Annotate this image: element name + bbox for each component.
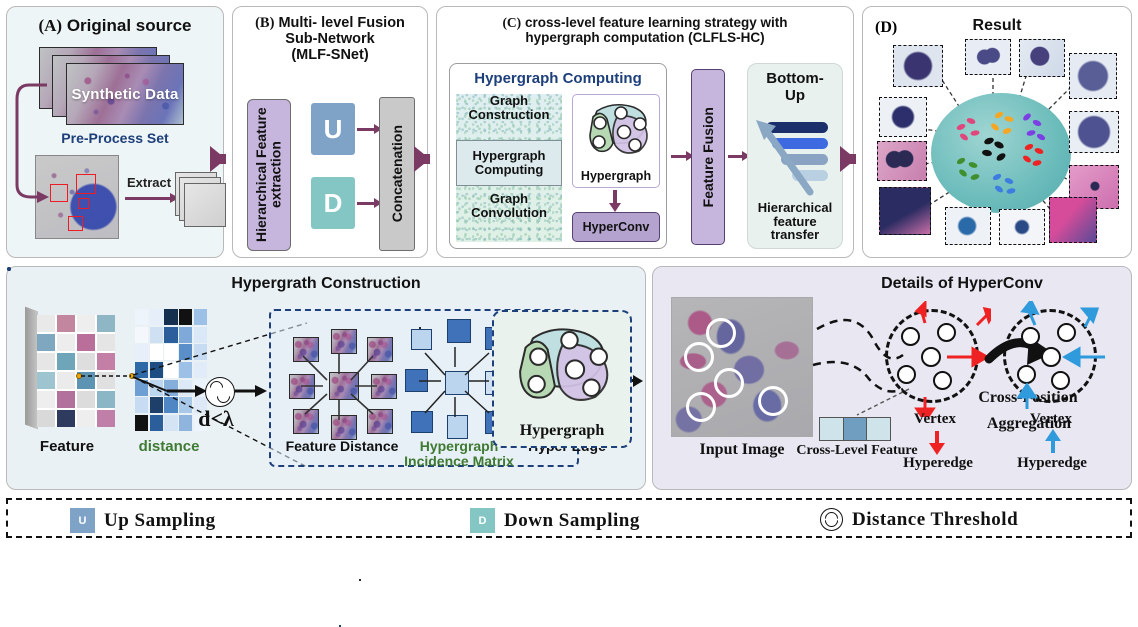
distance-cell: [179, 344, 192, 360]
panel-hyperconv-details: Details of HyperConv Input Image: [652, 266, 1132, 490]
vertex-left-label: Vertex: [899, 411, 971, 428]
vertex-right-label: Vertex: [1013, 411, 1089, 428]
legend-bar: U Up Sampling D Down Sampling Distance T…: [6, 498, 1132, 538]
panel-a-title: (A) Original source: [7, 7, 223, 35]
feature-cell: [844, 418, 868, 440]
feature-cell: [97, 391, 115, 408]
distance-cell: [150, 415, 163, 431]
graph-construction-label: Graph Construction: [456, 94, 562, 121]
feature-cell: [57, 372, 75, 389]
feature-cell: [37, 315, 55, 332]
feature-cell: [57, 334, 75, 351]
hyperconv-details-title: Details of HyperConv: [653, 267, 1131, 293]
hypergraph-computing-title: Hypergraph Computing: [450, 64, 666, 87]
distance-cell: [194, 309, 207, 325]
panel-a-original-source: (A) Original source Synthetic Data Pre-P…: [6, 6, 224, 258]
feature-cell: [867, 418, 890, 440]
hierarchical-feature-extraction-block: Hierarchical Feature extraction: [247, 99, 291, 251]
panel-b-title-line1: Multi- level Fusion: [278, 15, 404, 31]
hypergraph-computing-inner-box: Hypergraph Computing: [456, 140, 562, 186]
feature-cell: [57, 391, 75, 408]
result-thumb-7: [877, 141, 927, 181]
distance-cell: [179, 309, 192, 325]
distance-cell: [194, 344, 207, 360]
hypergraph-result-box: [7, 267, 11, 271]
distance-cell: [150, 344, 163, 360]
distance-cell: [150, 327, 163, 343]
legend-label-down-sampling: Down Sampling: [504, 510, 640, 532]
arrow-c-to-d-icon: [840, 146, 856, 172]
feature-distance-arrows-icon: [277, 322, 407, 447]
feature-cell: [97, 315, 115, 332]
input-image-label: Input Image: [671, 441, 813, 459]
panel-b-tag: (B): [255, 15, 274, 31]
hierarchical-feature-transfer-label: Hierarchical feature transfer: [748, 201, 842, 242]
feature-cell: [37, 372, 55, 389]
hyperedge-patch: [419, 327, 421, 329]
distance-cell: [135, 344, 148, 360]
distance-cell: [179, 362, 192, 378]
anchor-dot-right: [129, 373, 135, 379]
panel-c-title-line2: hypergraph computation (CLFLS-HC): [525, 30, 764, 45]
panel-b-title-line2: Sub-Network: [285, 31, 374, 47]
hyperedge-left-label: Hyperedge: [895, 455, 981, 472]
panel-b-title-line3: (MLF-SNet): [291, 47, 368, 63]
panel-c-tag: (C): [502, 15, 521, 30]
blue-up-arrow-icon: [1041, 429, 1065, 455]
highlight-circle-5: [758, 386, 788, 416]
arrow-a-to-b-icon: [210, 146, 226, 172]
highlight-circle-1: [706, 318, 736, 348]
distance-cell: [150, 380, 163, 396]
arrow-b-to-c-icon: [414, 146, 430, 172]
distance-cell: [150, 309, 163, 325]
concatenation-block: Concatenation: [379, 97, 415, 251]
graph-convolution-label: Graph Convolution: [456, 192, 562, 219]
feature-cell: [820, 418, 844, 440]
distance-cell: [164, 344, 177, 360]
hypergraph-final-icon: [500, 318, 628, 410]
legend-badge-u: U: [70, 508, 95, 533]
result-thumb-4: [1069, 53, 1117, 99]
feature-cell: [57, 315, 75, 332]
distance-cell: [135, 327, 148, 343]
distance-cell: [150, 362, 163, 378]
result-thumb-9: [879, 187, 931, 235]
feature-label: Feature: [21, 439, 113, 455]
panel-d-result: (D) Result: [862, 6, 1132, 258]
feature-cell: [77, 391, 95, 408]
result-thumb-12: [1049, 197, 1097, 243]
feature-distance-text: Feature Distance: [286, 438, 399, 454]
result-thumb-5: [879, 97, 927, 137]
down-sampling-label: D: [324, 188, 343, 219]
hierarchical-feature-extraction-label: Hierarchical Feature extraction: [254, 100, 283, 250]
distance-cell: [179, 380, 192, 396]
distance-cell: [164, 397, 177, 413]
highlight-circle-2: [684, 342, 714, 372]
up-sampling-label: U: [324, 114, 343, 145]
panel-b-title: (B) Multi- level Fusion Sub-Network (MLF…: [233, 7, 427, 64]
panel-c-title: (C) cross-level feature learning strateg…: [437, 7, 853, 45]
threshold-formula: d<λ: [181, 407, 251, 430]
distance-cell: [164, 362, 177, 378]
legend-label-distance-threshold: Distance Threshold: [852, 509, 1018, 531]
feature-cell: [57, 410, 75, 427]
concatenation-label: Concatenation: [390, 125, 405, 222]
synthetic-image-stack: Synthetic Data: [39, 47, 189, 127]
hypergraph-final-box: Hypergraph: [492, 310, 632, 448]
patch-3: [184, 183, 226, 227]
legend-item-down-sampling: D Down Sampling: [470, 508, 640, 533]
feature-cell: [97, 372, 115, 389]
distance-cell: [164, 327, 177, 343]
hypergraph-construction-title: Hypergrath Construction: [7, 267, 645, 293]
feature-cell: [37, 353, 55, 370]
result-thumb-10: [945, 207, 991, 245]
feature-cell: [77, 334, 95, 351]
feature-cell: [77, 410, 95, 427]
cluster-points: [931, 93, 1071, 213]
extracted-patch-stack: [175, 172, 227, 234]
synthetic-image-3: Synthetic Data: [66, 63, 184, 125]
distance-cell: [194, 327, 207, 343]
arrow-d-to-concat-icon: [357, 202, 375, 205]
source-slide-image: [35, 155, 119, 239]
panel-a-title-text: Original source: [67, 16, 192, 35]
feature-cell: [97, 410, 115, 427]
legend-badge-d: D: [470, 508, 495, 533]
distance-cell: [164, 380, 177, 396]
hypergraph-final-label: Hypergraph: [494, 422, 630, 440]
feature-cell: [77, 315, 95, 332]
distance-label: distance: [119, 439, 219, 455]
feature-fusion-label: Feature Fusion: [701, 107, 716, 207]
arrow-hc-to-ff-icon: [671, 155, 687, 158]
highlight-circle-3: [714, 368, 744, 398]
arrow-ff-to-bu-icon: [728, 155, 743, 158]
panel-a-tag: (A): [38, 16, 62, 35]
extract-arrow-icon: [125, 197, 171, 200]
feature-cell: [37, 410, 55, 427]
roi-box-3: [78, 198, 89, 209]
extract-label: Extract: [127, 175, 171, 190]
feature-cell: [57, 353, 75, 370]
feature-cell: [37, 391, 55, 408]
roi-box-4: [68, 216, 83, 231]
distance-cell: [135, 415, 148, 431]
distance-threshold-icon: [205, 377, 235, 407]
down-sampling-block: D: [311, 177, 355, 229]
legend-item-up-sampling: U Up Sampling: [70, 508, 216, 533]
distance-cell: [135, 397, 148, 413]
feature-distance-label: Feature Distance: [283, 439, 401, 454]
feature-cell: [97, 334, 115, 351]
legend-label-up-sampling: Up Sampling: [104, 510, 216, 532]
feature-cell: [77, 353, 95, 370]
hyperconv-block: HyperConv: [572, 212, 660, 242]
up-sampling-block: U: [311, 103, 355, 155]
blue-aggregation-arrows-icon: [997, 301, 1113, 417]
roi-box-2: [76, 174, 96, 194]
feature-grid: [37, 315, 115, 427]
hypergraph-computing-box: Hypergraph Computing Graph Construction …: [449, 63, 667, 249]
red-down-arrow-icon: [925, 429, 949, 455]
anchor-dot-left: [76, 373, 82, 379]
feature-cell: [37, 334, 55, 351]
distance-cell: [194, 362, 207, 378]
preprocess-set-label: Pre-Process Set: [7, 130, 223, 146]
bottom-up-box: Bottom- Up Hierarchical feature transfer: [747, 63, 843, 249]
panel-c-clfls-hc: (C) cross-level feature learning strateg…: [436, 6, 854, 258]
hypergraph-card: Hypergraph: [572, 94, 660, 188]
distance-cell: [164, 309, 177, 325]
hypergraph-caption: Hypergraph: [573, 169, 659, 183]
hypergraph-diagram-icon: [573, 97, 661, 163]
synthetic-data-label: Synthetic Data: [67, 86, 183, 103]
result-thumb-6: [1069, 111, 1119, 153]
legend-distance-threshold-icon: [820, 508, 843, 531]
arrow-u-to-concat-icon: [357, 128, 375, 131]
input-image: [671, 297, 813, 437]
result-thumb-1: [893, 45, 943, 87]
arrow-hypergraph-to-hyperconv-icon: [613, 190, 617, 204]
feature-fusion-block: Feature Fusion: [691, 69, 725, 245]
distance-cell: [135, 362, 148, 378]
panel-c-title-line1: cross-level feature learning strategy wi…: [525, 15, 788, 30]
feature-cell: [97, 353, 115, 370]
distance-cell: [135, 309, 148, 325]
distance-cell: [179, 327, 192, 343]
result-thumb-11: [999, 209, 1045, 245]
hyperedge-right-label: Hyperedge: [1009, 455, 1095, 472]
distance-cell: [150, 397, 163, 413]
legend-item-distance-threshold: Distance Threshold: [820, 508, 1018, 531]
distance-cell: [135, 380, 148, 396]
highlight-circle-4: [686, 392, 716, 422]
hyperedge-patch: [359, 579, 361, 581]
result-thumb-2: [965, 39, 1011, 75]
result-thumb-3: [1019, 39, 1065, 77]
roi-box-1: [50, 184, 68, 202]
panel-b-mlf-snet: (B) Multi- level Fusion Sub-Network (MLF…: [232, 6, 428, 258]
distance-cell: [164, 415, 177, 431]
